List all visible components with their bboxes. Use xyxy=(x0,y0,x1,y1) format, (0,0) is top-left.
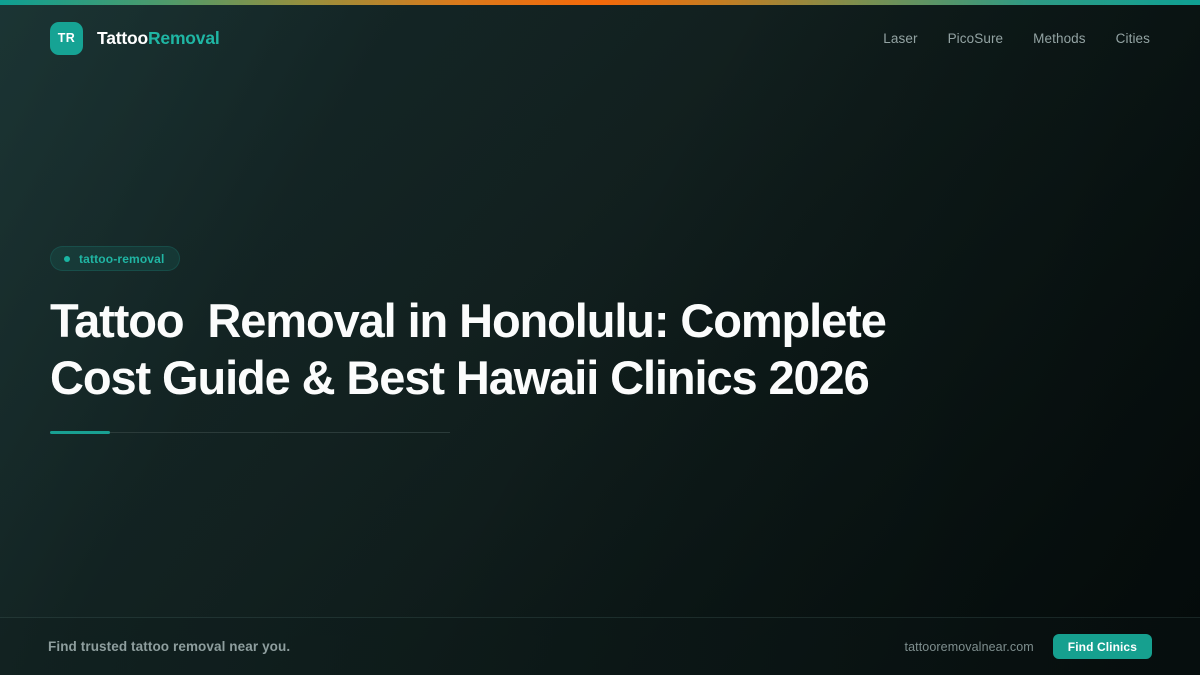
nav-item-laser[interactable]: Laser xyxy=(883,31,917,46)
hero-section: tattoo-removal Tattoo Removal in Honolul… xyxy=(50,246,1150,434)
badge-dot-icon xyxy=(64,256,70,262)
nav-item-methods[interactable]: Methods xyxy=(1033,31,1085,46)
badge-label: tattoo-removal xyxy=(79,252,164,266)
footer-actions: tattooremovalnear.com Find Clinics xyxy=(905,634,1152,659)
footer-domain: tattooremovalnear.com xyxy=(905,640,1034,654)
nav-item-cities[interactable]: Cities xyxy=(1116,31,1150,46)
brand-name: TattooRemoval xyxy=(97,28,220,49)
brand-name-second: Removal xyxy=(148,28,220,48)
brand-name-first: Tattoo xyxy=(97,28,148,48)
site-footer: Find trusted tattoo removal near you. ta… xyxy=(0,617,1200,675)
page-title: Tattoo Removal in Honolulu: Complete Cos… xyxy=(50,292,950,406)
nav-item-picosure[interactable]: PicoSure xyxy=(948,31,1004,46)
logo-initials: TR xyxy=(58,31,75,45)
page-root: TR TattooRemoval Laser PicoSure Methods … xyxy=(0,0,1200,675)
footer-tagline: Find trusted tattoo removal near you. xyxy=(48,639,290,654)
site-header: TR TattooRemoval Laser PicoSure Methods … xyxy=(0,5,1200,71)
category-badge[interactable]: tattoo-removal xyxy=(50,246,180,271)
brand-logo[interactable]: TR TattooRemoval xyxy=(50,22,220,55)
find-clinics-button[interactable]: Find Clinics xyxy=(1053,634,1152,659)
divider-line xyxy=(50,432,450,433)
divider-accent xyxy=(50,431,110,434)
main-nav: Laser PicoSure Methods Cities xyxy=(883,31,1150,46)
logo-mark-icon: TR xyxy=(50,22,83,55)
title-divider xyxy=(50,431,450,434)
